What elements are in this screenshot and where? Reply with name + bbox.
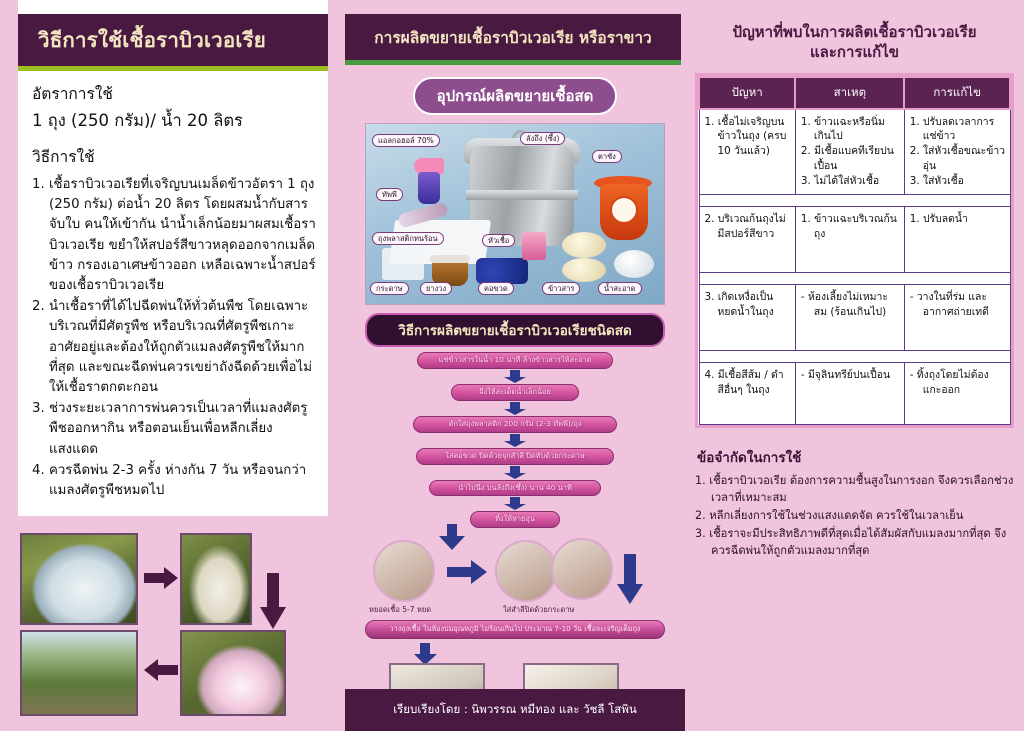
- alcohol-bottle-icon: [418, 172, 440, 204]
- equipment-tag-scale: ตาชั่ง: [592, 150, 622, 163]
- rice-bowl-icon: [562, 258, 606, 282]
- equipment-tag-steamer: ลังถึง (ซึ้ง): [520, 132, 565, 145]
- equipment-tag-rice: ข้าวสาร: [542, 282, 580, 295]
- usage-steps-list: เชื้อราบิวเวอเรียที่เจริญบนเมล็ดข้าวอัตร…: [32, 175, 316, 501]
- inoculation-photo-row: หยอดเชื้อ 5-7 หยด ใส่สำลีปิดด้วยกระดาษ: [355, 532, 675, 618]
- left-panel-header: วิธีการใช้เชื้อราบิวเวอเรีย: [18, 14, 328, 71]
- cell-problem: 4. มีเชื้อสีส้ม / ดำ สีอื่นๆ ในถุง: [699, 363, 795, 425]
- flow-arrow-down-icon: [504, 370, 526, 383]
- center-panel-header: การผลิตขยายเชื้อราบิวเวอเรีย หรือราขาว: [345, 14, 681, 65]
- cell-list: - วางในที่ร่ม และอากาศถ่ายเทดี: [910, 290, 1006, 320]
- circle-caption: ใส่สำลีปิดด้วยกระดาษ: [503, 604, 574, 616]
- photo-finished-bags: [551, 538, 613, 600]
- flow-arrow-down-icon: [504, 497, 526, 510]
- equipment-tag-water: น้ำสะอาด: [598, 282, 642, 295]
- cell-line: - ทิ้งถุงโดยไม่ต้องแกะออก: [910, 368, 1006, 398]
- incubation-bar: วางถุงเชื้อ ในห้องบ่มอุณหภูมิ ไม่ร้อนเกิ…: [365, 620, 665, 639]
- table-row-spacer: [699, 273, 1010, 285]
- flow-arrow-down-icon: [504, 466, 526, 479]
- center-header-text: การผลิตขยายเชื้อราบิวเวอเรีย หรือราขาว: [351, 25, 675, 50]
- cell-fix: - วางในที่ร่ม และอากาศถ่ายเทดี: [904, 285, 1010, 351]
- usage-step: เชื้อราบิวเวอเรียที่เจริญบนเมล็ดข้าวอัตร…: [32, 175, 316, 296]
- photo-image: [22, 535, 136, 623]
- cell-line: 1. เชื้อไม่เจริญบนข้าวในถุง (ครบ 10 วันแ…: [705, 115, 791, 159]
- cell-fix: 1. ปรับลดน้ำ: [904, 207, 1010, 273]
- row-spacer: [699, 273, 1010, 285]
- left-photo-sequence: [20, 533, 326, 718]
- arrow-right-icon: [447, 560, 487, 584]
- right-panel-title: ปัญหาที่พบในการผลิตเชื้อราบิวเวอเรีย และ…: [695, 22, 1014, 63]
- usage-step: นำเชื้อราที่ได้ไปฉีดพ่นให้ทั่วต้นพืช โดย…: [32, 297, 316, 398]
- flow-arrow-down-icon: [504, 402, 526, 415]
- flow-arrow-down-icon: [617, 554, 643, 604]
- cell-line: 2. บริเวณก้นถุงไม่มีสปอร์สีขาว: [705, 212, 791, 242]
- cell-fix: 1. ปรับลดเวลาการแช่ข้าว 2. ใส่หัวเชื้อขณ…: [904, 109, 1010, 195]
- flow-step: ใส่คอขวด ปิดด้วยจุกสำลี ปิดทับด้วยกระดาษ: [416, 448, 614, 465]
- cell-line: 1. ปรับลดน้ำ: [910, 212, 1006, 227]
- flow-step: ผึ่งให้สะเด็ดน้ำเล็กน้อย: [451, 384, 579, 401]
- cell-list: 1. ข้าวแฉะหรือนิ่มเกินไป 2. มีเชื้อแบคที…: [801, 115, 900, 189]
- flow-arrow-down-icon: [439, 524, 465, 550]
- center-panel: การผลิตขยายเชื้อราบิวเวอเรีย หรือราขาว อ…: [345, 0, 685, 731]
- bottle-neck-rings-icon: [476, 258, 528, 284]
- arrow-down-1: [260, 573, 286, 629]
- limits-title: ข้อจำกัดในการใช้: [697, 446, 1014, 468]
- rate-value: 1 ถุง (250 กรัม)/ น้ำ 20 ลิตร: [32, 108, 316, 134]
- cell-cause: - มีจุลินทรีย์ปนเปื้อน: [795, 363, 904, 425]
- usage-step: ช่วงระยะเวลาการพ่นควรเป็นเวลาที่แมลงศัตร…: [32, 399, 316, 460]
- production-flowchart: แช่ข้าวสารในน้ำ 10 นาที ล้างข้าวสารให้สะ…: [365, 352, 665, 528]
- clean-water-bowl-icon: [614, 250, 654, 278]
- photo-image: [182, 535, 250, 623]
- left-content-card: วิธีการใช้เชื้อราบิวเวอเรีย อัตราการใช้ …: [18, 14, 328, 516]
- cell-fix: - ทิ้งถุงโดยไม่ต้องแกะออก: [904, 363, 1010, 425]
- photo-farmer-spraying: [20, 630, 138, 716]
- cell-line: 3. เกิดเหงื่อเป็นหยดน้ำในถุง: [705, 290, 791, 320]
- limits-list: เชื้อราบิวเวอเรีย ต้องการความชื้นสูงในกา…: [695, 473, 1014, 559]
- cell-list: - มีจุลินทรีย์ปนเปื้อน: [801, 368, 900, 383]
- cell-line: 2. ใส่หัวเชื้อขณะข้าวอุ่น: [910, 144, 1006, 174]
- left-panel: วิธีการใช้เชื้อราบิวเวอเรีย อัตราการใช้ …: [0, 0, 345, 731]
- left-card-top-edge: [18, 0, 328, 14]
- flow-arrow-down-icon: [504, 434, 526, 447]
- credit-text: เรียบเรียงโดย : นิพวรรณ หมีทอง และ วัชลี…: [393, 701, 637, 719]
- table-row: 4. มีเชื้อสีส้ม / ดำ สีอื่นๆ ในถุง - มีจ…: [699, 363, 1010, 425]
- brochure-page: วิธีการใช้เชื้อราบิวเวอเรีย อัตราการใช้ …: [0, 0, 1024, 731]
- table-header-row: ปัญหา สาเหตุ การแก้ไข: [699, 77, 1010, 109]
- circle-caption: หยอดเชื้อ 5-7 หยด: [369, 604, 431, 616]
- col-header-cause: สาเหตุ: [795, 77, 904, 109]
- cell-list: - ทิ้งถุงโดยไม่ต้องแกะออก: [910, 368, 1006, 398]
- limit-item: หลีกเลี่ยงการใช้ในช่วงแสงแดดจัด ควรใช้ใน…: [695, 508, 1014, 525]
- limit-item: เชื้อราจะมีประสิทธิภาพดีที่สุดเมื่อได้สั…: [695, 526, 1014, 560]
- flow-step: นำไปนึ่ง บนลังถึง(ซึ้ง) นาน 40 นาที: [429, 480, 601, 497]
- cell-cause: - ห้องเลี้ยงไม่เหมาะสม (ร้อนเกินไป): [795, 285, 904, 351]
- photo-image: [182, 632, 284, 714]
- row-spacer: [699, 195, 1010, 207]
- col-header-fix: การแก้ไข: [904, 77, 1010, 109]
- flow-step: ตักใส่ถุงพลาสติก 200 กรัม (2-3 ทัพพี)/ถุ…: [413, 416, 617, 433]
- cell-list: - ห้องเลี้ยงไม่เหมาะสม (ร้อนเกินไป): [801, 290, 900, 320]
- flow-step: แช่ข้าวสารในน้ำ 10 นาที ล้างข้าวสารให้สะ…: [417, 352, 613, 369]
- usage-step: ควรฉีดพ่น 2-3 ครั้ง ห่างกัน 7 วัน หรือจน…: [32, 461, 316, 501]
- equipment-tag-bag: ถุงพลาสติกทนร้อน: [372, 232, 444, 245]
- howto-label: วิธีการใช้: [32, 144, 316, 169]
- right-title-line1: ปัญหาที่พบในการผลิตเชื้อราบิวเวอเรีย: [695, 22, 1014, 42]
- cell-line: 2. มีเชื้อแบคทีเรียปนเปื้อน: [801, 144, 900, 174]
- flow-arrow-down-icon: [413, 643, 437, 665]
- cell-problem: 3. เกิดเหงื่อเป็นหยดน้ำในถุง: [699, 285, 795, 351]
- equipment-tag-alcohol: แอลกอฮอล์ 70%: [372, 134, 440, 147]
- right-title-line2: และการแก้ไข: [695, 42, 1014, 62]
- cell-cause: 1. ข้าวแฉะบริเวณก้นถุง: [795, 207, 904, 273]
- starter-culture-vials-icon: [522, 232, 546, 260]
- equipment-tag-rubber: ยางวง: [420, 282, 452, 295]
- jar-lid-icon: [430, 255, 470, 263]
- flow-step: ทิ้งให้หายอุ่น: [470, 511, 560, 528]
- scale-dial-icon: [610, 196, 638, 224]
- photo-capping-cotton: [495, 540, 557, 602]
- cell-line: 3. ไม่ได้ใส่หัวเชื้อ: [801, 174, 900, 189]
- table-row: 1. เชื้อไม่เจริญบนข้าวในถุง (ครบ 10 วันแ…: [699, 109, 1010, 195]
- table-row: 3. เกิดเหงื่อเป็นหยดน้ำในถุง - ห้องเลี้ย…: [699, 285, 1010, 351]
- cell-list: 1. ปรับลดน้ำ: [910, 212, 1006, 227]
- problems-table: ปัญหา สาเหตุ การแก้ไข 1. เชื้อไม่เจริญบน…: [698, 76, 1011, 426]
- photo-dropping-starter: [373, 540, 435, 602]
- arrow-right-1: [144, 567, 178, 589]
- equipment-photo: แอลกอฮอล์ 70% ลังถึง (ซึ้ง) ตาชั่ง ทัพพี…: [365, 123, 665, 305]
- right-panel: ปัญหาที่พบในการผลิตเชื้อราบิวเวอเรีย และ…: [685, 0, 1024, 731]
- rice-bowl-icon: [562, 232, 606, 258]
- cell-line: 1. ปรับลดเวลาการแช่ข้าว: [910, 115, 1006, 145]
- credit-strip: เรียบเรียงโดย : นิพวรรณ หมีทอง และ วัชลี…: [345, 689, 685, 731]
- cell-line: 4. มีเชื้อสีส้ม / ดำ สีอื่นๆ ในถุง: [705, 368, 791, 398]
- left-header-text: วิธีการใช้เชื้อราบิวเวอเรีย: [38, 24, 314, 57]
- cell-line: 1. ข้าวแฉะหรือนิ่มเกินไป: [801, 115, 900, 145]
- cell-problem: 1. เชื้อไม่เจริญบนข้าวในถุง (ครบ 10 วันแ…: [699, 109, 795, 195]
- table-row-spacer: [699, 351, 1010, 363]
- arrow-left-1: [144, 659, 178, 681]
- col-header-problem: ปัญหา: [699, 77, 795, 109]
- cell-line: - ห้องเลี้ยงไม่เหมาะสม (ร้อนเกินไป): [801, 290, 900, 320]
- equipment-tag-neck: คอขวด: [478, 282, 514, 295]
- steamer-tier-icon: [466, 190, 578, 200]
- cell-line: 3. ใส่หัวเชื้อ: [910, 174, 1006, 189]
- photo-straining-bowl: [180, 630, 286, 716]
- cell-list: 1. ข้าวแฉะบริเวณก้นถุง: [801, 212, 900, 242]
- cell-list: 3. เกิดเหงื่อเป็นหยดน้ำในถุง: [705, 290, 791, 320]
- rate-label: อัตราการใช้: [32, 81, 316, 106]
- photo-squeezing-bag: [180, 533, 252, 625]
- photo-mixing-bucket: [20, 533, 138, 625]
- table-row-spacer: [699, 195, 1010, 207]
- cell-line: - วางในที่ร่ม และอากาศถ่ายเทดี: [910, 290, 1006, 320]
- cell-line: - มีจุลินทรีย์ปนเปื้อน: [801, 368, 900, 383]
- cell-list: 2. บริเวณก้นถุงไม่มีสปอร์สีขาว: [705, 212, 791, 242]
- cell-list: 1. เชื้อไม่เจริญบนข้าวในถุง (ครบ 10 วันแ…: [705, 115, 791, 159]
- cell-list: 4. มีเชื้อสีส้ม / ดำ สีอื่นๆ ในถุง: [705, 368, 791, 398]
- limit-item: เชื้อราบิวเวอเรีย ต้องการความชื้นสูงในกา…: [695, 473, 1014, 507]
- cell-list: 1. ปรับลดเวลาการแช่ข้าว 2. ใส่หัวเชื้อขณ…: [910, 115, 1006, 189]
- photo-image: [22, 632, 136, 714]
- cell-cause: 1. ข้าวแฉะหรือนิ่มเกินไป 2. มีเชื้อแบคที…: [795, 109, 904, 195]
- left-panel-body: อัตราการใช้ 1 ถุง (250 กรัม)/ น้ำ 20 ลิต…: [18, 71, 328, 506]
- plastic-bag-stack-icon: [382, 248, 424, 280]
- cell-line: 1. ข้าวแฉะบริเวณก้นถุง: [801, 212, 900, 242]
- table-row: 2. บริเวณก้นถุงไม่มีสปอร์สีขาว 1. ข้าวแฉ…: [699, 207, 1010, 273]
- cell-problem: 2. บริเวณก้นถุงไม่มีสปอร์สีขาว: [699, 207, 795, 273]
- equipment-tag-starter: หัวเชื้อ: [482, 234, 515, 247]
- equipment-tag-paper: กระดาษ: [370, 282, 409, 295]
- equipment-tag-ladle: ทัพพี: [376, 188, 403, 201]
- equipment-title: อุปกรณ์ผลิตขยายเชื้อสด: [413, 77, 618, 115]
- method-title: วิธีการผลิตขยายเชื้อราบิวเวอเรียชนิดสด: [365, 313, 665, 347]
- row-spacer: [699, 351, 1010, 363]
- problems-table-wrap: ปัญหา สาเหตุ การแก้ไข 1. เชื้อไม่เจริญบน…: [695, 73, 1014, 429]
